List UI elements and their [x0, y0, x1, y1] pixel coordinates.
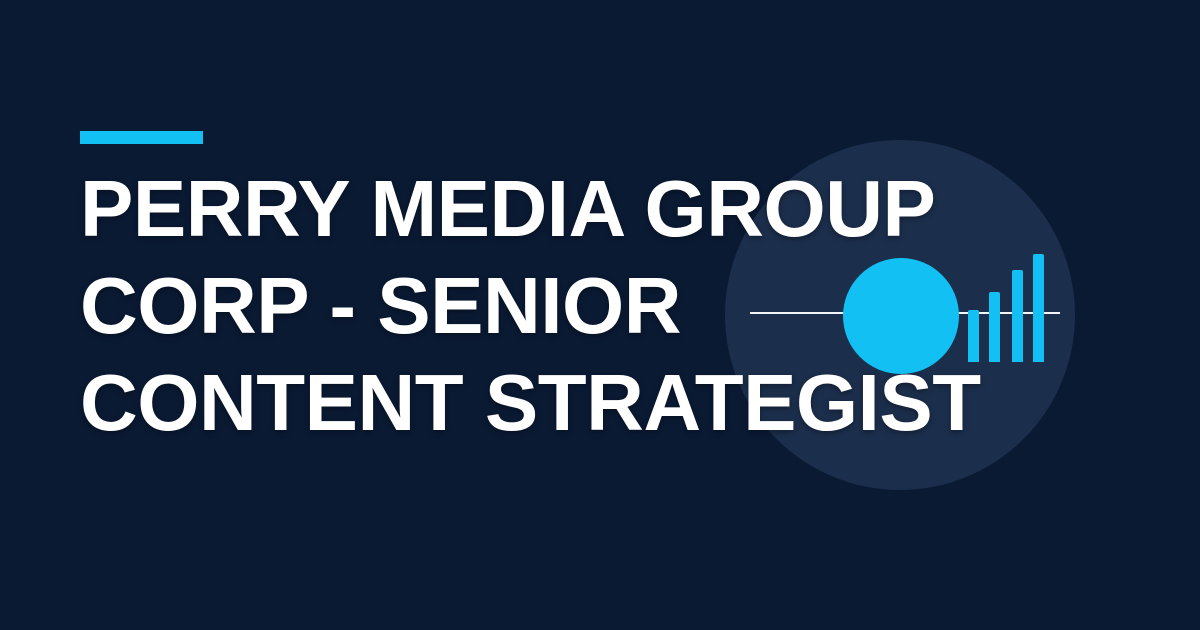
title-line-3: CONTENT STRATEGIST [80, 354, 1140, 451]
title-line-2: CORP - SENIOR [80, 257, 1140, 354]
page-title: PERRY MEDIA GROUP CORP - SENIOR CONTENT … [80, 160, 1140, 451]
social-share-card: PERRY MEDIA GROUP CORP - SENIOR CONTENT … [0, 0, 1200, 630]
accent-rule [80, 131, 203, 144]
title-line-1: PERRY MEDIA GROUP [80, 160, 1140, 257]
